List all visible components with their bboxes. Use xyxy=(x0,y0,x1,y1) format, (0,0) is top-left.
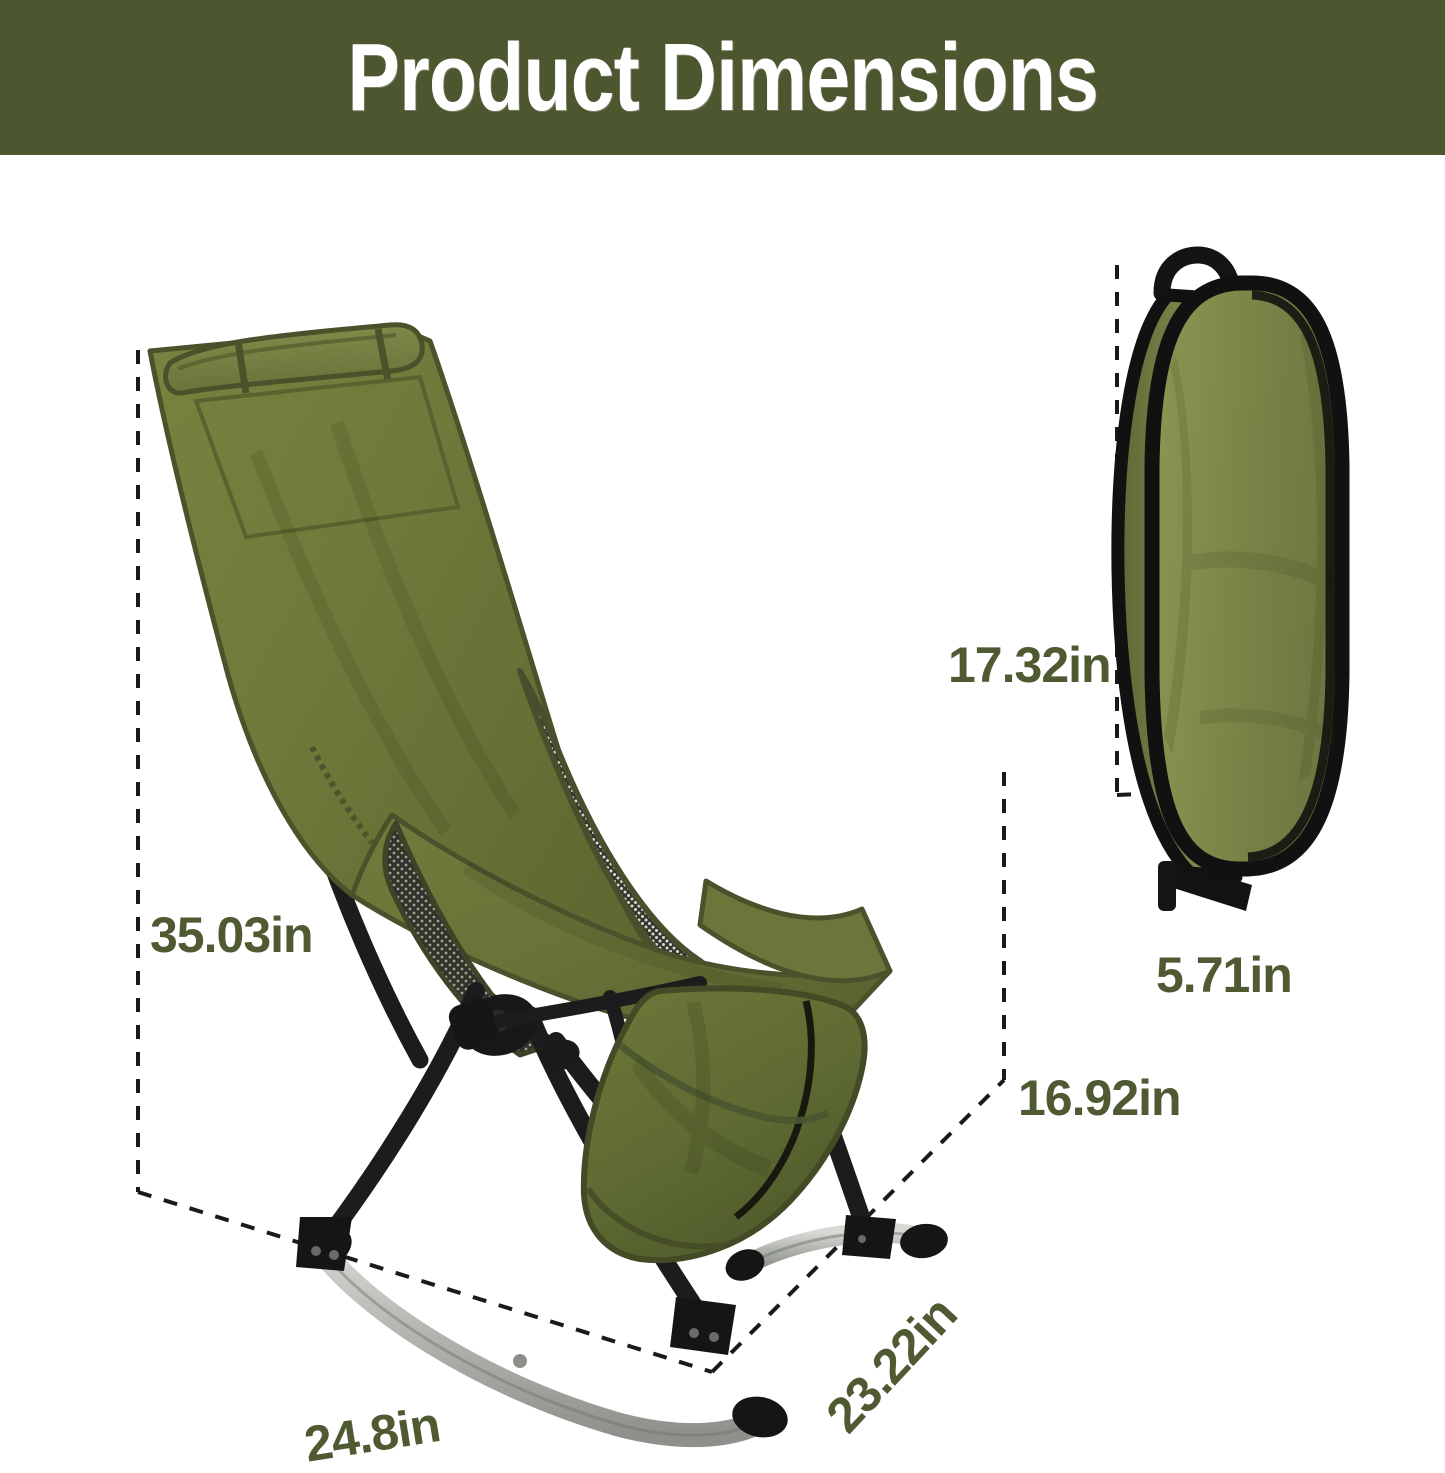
header-banner: Product Dimensions xyxy=(0,0,1445,155)
dimension-label-height: 35.03in xyxy=(150,910,313,960)
dimension-label-bag-height: 17.32in xyxy=(948,640,1111,690)
product-diagram: 35.03in 24.8in 23.22in 16.92in 17.32in 5… xyxy=(0,155,1445,1445)
storage-pouch xyxy=(584,988,865,1260)
chair-illustration xyxy=(0,155,1445,1445)
page-title: Product Dimensions xyxy=(347,30,1098,126)
rail-rivet xyxy=(513,1354,527,1368)
dimension-label-seat-height: 16.92in xyxy=(1018,1073,1181,1123)
dimension-label-bag-width: 5.71in xyxy=(1156,950,1292,1000)
